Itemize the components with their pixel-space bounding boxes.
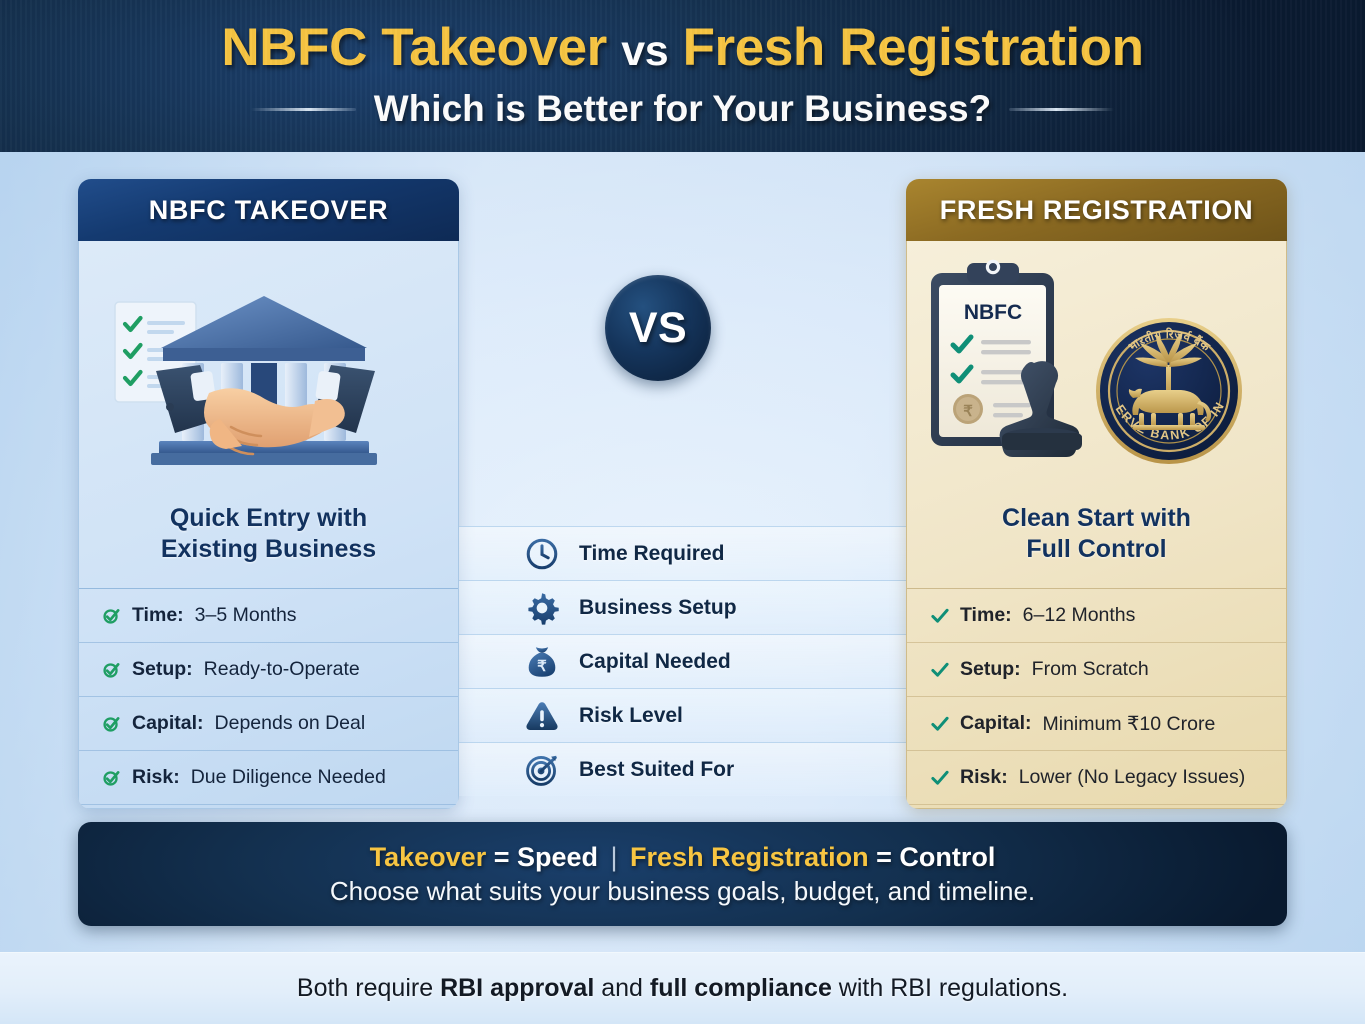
fresh-registration-feature-list: Time: 6–12 Months Setup: From Scratch Ca… [907,588,1286,809]
fresh-row-risk-label: Risk: [960,766,1008,789]
fresh-row-risk-value: Lower (No Legacy Issues) [1019,766,1246,789]
summary-banner-line1: Takeover = Speed | Fresh Registration = … [370,842,996,873]
summary-control-word: = Control [869,842,996,872]
criteria-row-bestfor-label: Best Suited For [579,758,734,782]
fresh-row-bestfor: Best For: Long-Term Control [907,804,1286,809]
check-icon [930,768,949,787]
nbfc-clipboard-with-stamp-and-rbi-seal-icon: NBFC ₹ [907,241,1286,506]
footer-note: Both require RBI approval and full compl… [0,952,1365,1024]
card-tagline-fresh-registration: Clean Start with Full Control [907,503,1286,564]
warning-triangle-icon [523,697,561,735]
footer-bold-full-compliance: full compliance [650,974,832,1002]
fresh-row-capital: Capital: Minimum ₹10 Crore [907,696,1286,750]
takeover-row-risk: Risk: Due Diligence Needed [79,750,458,804]
clock-icon [523,535,561,573]
takeover-row-risk-label: Risk: [132,766,180,789]
handshake-over-bank-building-with-checklist-icon [79,241,458,506]
summary-fresh-word: Fresh Registration [623,842,869,872]
check-icon [930,606,949,625]
target-dart-icon [523,751,561,789]
summary-speed-word: = Speed [486,842,605,872]
fresh-row-setup: Setup: From Scratch [907,642,1286,696]
criteria-row-risk-label: Risk Level [579,704,683,728]
criteria-row-bestfor: Best Suited For [459,742,906,796]
clipboard-label: NBFC [964,301,1022,324]
check-circle-icon [102,660,121,679]
header-banner: NBFC Takeover vs Fresh Registration Whic… [0,0,1365,152]
summary-separator: | [606,842,623,872]
card-tagline-fresh-line2: Full Control [907,534,1286,565]
comparison-card-fresh-registration: FRESH REGISTRATION [906,179,1287,809]
footer-bold-rbi-approval: RBI approval [440,974,594,1002]
fresh-row-capital-label: Capital: [960,712,1032,735]
footer-suffix: with RBI regulations. [832,974,1068,1002]
subtitle-rule-left [251,108,356,111]
takeover-row-capital: Capital: Depends on Deal [79,696,458,750]
footer-text: Both require RBI approval and full compl… [297,974,1068,1003]
fresh-row-risk: Risk: Lower (No Legacy Issues) [907,750,1286,804]
fresh-row-time: Time: 6–12 Months [907,588,1286,642]
card-body-takeover: Quick Entry with Existing Business Time:… [78,241,459,809]
criteria-row-setup-label: Business Setup [579,596,737,620]
summary-banner-line2: Choose what suits your business goals, b… [330,876,1035,907]
check-circle-icon [102,768,121,787]
card-heading-takeover: NBFC TAKEOVER [78,179,459,241]
takeover-row-time-label: Time: [132,604,184,627]
summary-banner: Takeover = Speed | Fresh Registration = … [78,822,1287,926]
card-tagline-takeover-line2: Existing Business [79,534,458,565]
card-tagline-takeover-line1: Quick Entry with [79,503,458,534]
gear-icon [523,589,561,627]
takeover-row-bestfor: Best For: Fast Market Entry [79,804,458,809]
fresh-row-setup-label: Setup: [960,658,1021,681]
vs-badge: VS [605,275,711,381]
fresh-row-time-label: Time: [960,604,1012,627]
criteria-row-capital-label: Capital Needed [579,650,731,674]
takeover-row-risk-value: Due Diligence Needed [191,766,386,789]
takeover-row-setup-label: Setup: [132,658,193,681]
takeover-row-time: Time: 3–5 Months [79,588,458,642]
fresh-row-time-value: 6–12 Months [1023,604,1136,627]
card-heading-fresh-registration: FRESH REGISTRATION [906,179,1287,241]
takeover-row-capital-value: Depends on Deal [215,712,366,735]
card-body-fresh-registration: NBFC ₹ [906,241,1287,809]
takeover-row-capital-label: Capital: [132,712,204,735]
subtitle-rule-right [1009,108,1114,111]
page-title-vs: vs [621,27,668,75]
page-title-part1: NBFC Takeover [221,18,621,77]
criteria-row-capital: ₹ Capital Needed [459,634,906,688]
infographic-page: NBFC Takeover vs Fresh Registration Whic… [0,0,1365,1024]
footer-prefix: Both require [297,974,440,1002]
takeover-row-time-value: 3–5 Months [195,604,297,627]
check-icon [930,660,949,679]
svg-text:₹: ₹ [537,658,547,675]
criteria-row-time: Time Required [459,526,906,580]
takeover-row-setup-value: Ready-to-Operate [204,658,360,681]
fresh-row-capital-value: Minimum ₹10 Crore [1043,712,1216,736]
criteria-row-setup: Business Setup [459,580,906,634]
summary-takeover-word: Takeover [370,842,487,872]
page-subtitle: Which is Better for Your Business? [374,88,991,130]
fresh-row-setup-value: From Scratch [1032,658,1149,681]
takeover-row-setup: Setup: Ready-to-Operate [79,642,458,696]
page-title: NBFC Takeover vs Fresh Registration [0,17,1365,78]
page-title-part2: Fresh Registration [668,18,1143,77]
takeover-feature-list: Time: 3–5 Months Setup: Ready-to-Operate [79,588,458,809]
vs-badge-label: VS [629,304,687,353]
money-bag-rupee-icon: ₹ [523,643,561,681]
criteria-list: Time Required Business Setup ₹ Capital N… [459,526,906,796]
subtitle-row: Which is Better for Your Business? [0,88,1365,130]
check-icon [930,714,949,733]
criteria-row-time-label: Time Required [579,542,724,566]
comparison-card-takeover: NBFC TAKEOVER [78,179,459,809]
criteria-row-risk: Risk Level [459,688,906,742]
check-circle-icon [102,606,121,625]
center-criteria-column: VS Time Required Business Setup [459,179,906,809]
footer-middle: and [594,974,650,1002]
card-tagline-fresh-line1: Clean Start with [907,503,1286,534]
card-tagline-takeover: Quick Entry with Existing Business [79,503,458,564]
svg-text:₹: ₹ [963,403,973,420]
check-circle-icon [102,714,121,733]
